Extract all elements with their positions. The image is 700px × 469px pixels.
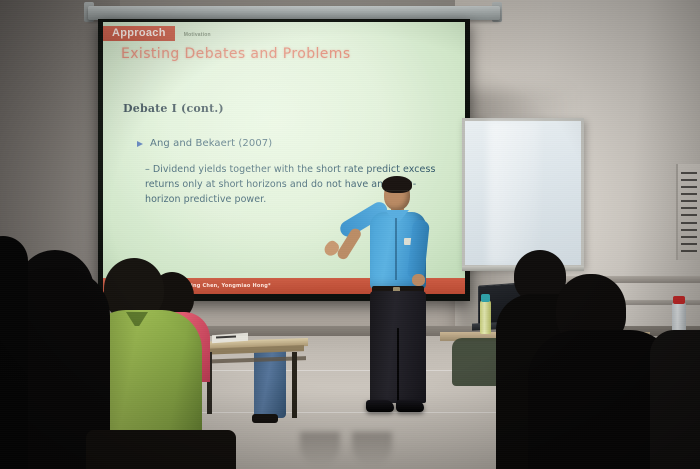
presenter-trouser-seam	[397, 328, 399, 403]
water-bottle-cap	[673, 296, 685, 304]
classroom-presentation-scene: Approach Motivation Existing Debates and…	[0, 0, 700, 469]
whiteboard	[462, 118, 584, 268]
triangle-bullet-icon	[137, 141, 143, 147]
slide-bullet-text: Ang and Bekaert (2007)	[150, 138, 272, 149]
whiteboard-glare	[488, 121, 540, 265]
sports-bottle-yellow	[480, 300, 491, 334]
left-desk-leg	[292, 352, 297, 418]
student-silhouette-far-left	[0, 236, 28, 469]
slide-tab-approach[interactable]: Approach	[103, 26, 175, 41]
slide-bullet-row: Ang and Bekaert (2007)	[137, 138, 272, 149]
slide-header-tabs: Approach Motivation	[103, 22, 465, 41]
presenter-shoe-left	[366, 400, 394, 412]
presenter-shoe-right	[396, 400, 424, 412]
slide-body-dash: –	[145, 164, 150, 175]
glasses-icon	[386, 190, 408, 196]
slide-tab-motivation[interactable]: Motivation	[175, 31, 220, 41]
student-silhouette-right-3	[650, 330, 700, 469]
foreground-chair-back	[86, 430, 236, 469]
slide-footer-authors: ...ning Chen, Yongmiao Hong*	[181, 283, 271, 289]
projector-screen-housing	[88, 6, 500, 20]
presenter	[336, 168, 456, 433]
slide-subtitle: Debate I (cont.)	[123, 102, 224, 115]
sports-bottle-cap	[481, 294, 490, 302]
presenter-shirt-placket	[395, 218, 397, 280]
wall-air-vent-icon	[676, 164, 700, 260]
presenter-hand	[412, 274, 425, 286]
student-shoe	[252, 414, 278, 423]
presenter-forearm	[336, 227, 363, 262]
slide-title: Existing Debates and Problems	[121, 46, 351, 62]
